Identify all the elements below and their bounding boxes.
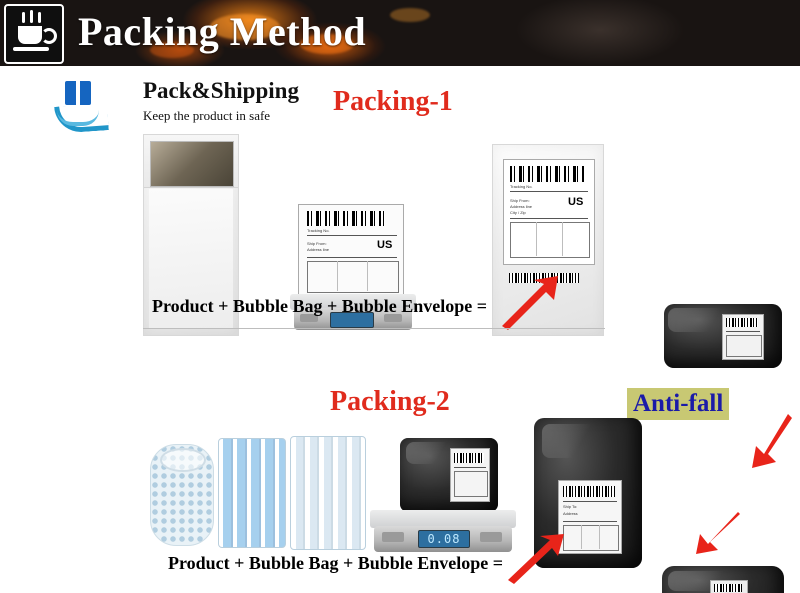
black-parcel-on-scale-photo: 0.08 bbox=[370, 438, 516, 558]
label-detail-box bbox=[510, 222, 590, 258]
section-divider bbox=[143, 328, 605, 329]
divider bbox=[599, 525, 600, 549]
red-arrow-icon bbox=[500, 274, 562, 330]
divider bbox=[562, 222, 563, 256]
divider bbox=[307, 235, 397, 236]
shipping-label bbox=[710, 580, 748, 593]
cup-body bbox=[18, 26, 42, 44]
label-text: Address bbox=[563, 511, 578, 516]
pack-shipping-title: Pack&Shipping bbox=[143, 78, 299, 104]
label-text: Ship From: bbox=[307, 241, 327, 246]
pack-shipping-logo: Pack&Shipping Keep the product in safe bbox=[55, 78, 305, 138]
scale-button[interactable] bbox=[480, 532, 502, 542]
box-in-hand-icon bbox=[55, 81, 105, 131]
air-column-bag-photo bbox=[216, 436, 286, 548]
divider bbox=[726, 331, 760, 332]
divider bbox=[563, 521, 617, 522]
parcel-sheen bbox=[542, 424, 606, 458]
barcode bbox=[714, 584, 742, 592]
shipping-label bbox=[450, 448, 490, 502]
label-text: Tracking No. bbox=[307, 228, 330, 233]
divider bbox=[581, 525, 582, 549]
label-text: Address line bbox=[510, 204, 532, 209]
page-title: Packing Method bbox=[78, 8, 366, 55]
scale-display: 0.08 bbox=[418, 530, 470, 548]
red-arrow-icon bbox=[506, 532, 568, 584]
label-text: Tracking No. bbox=[510, 184, 533, 189]
black-parcel bbox=[400, 438, 498, 512]
divider bbox=[510, 218, 588, 219]
steam-line bbox=[22, 12, 25, 23]
barcode bbox=[510, 166, 586, 182]
divider bbox=[367, 261, 368, 291]
anti-fall-parcel-top-photo bbox=[664, 304, 782, 368]
barcode bbox=[726, 318, 758, 327]
box-shape bbox=[65, 81, 91, 105]
divider bbox=[307, 257, 397, 258]
roll-opening bbox=[160, 448, 206, 472]
barcode bbox=[563, 486, 615, 497]
anti-fall-parcel-bottom-photo bbox=[662, 566, 784, 593]
shipping-label-2: Tracking No. US Ship From: Address line … bbox=[503, 159, 595, 265]
ember-glow bbox=[390, 8, 430, 22]
pack-shipping-subtitle: Keep the product in safe bbox=[143, 108, 270, 124]
label-detail-box bbox=[726, 335, 762, 357]
cup-handle bbox=[41, 28, 57, 44]
air-column-bag-clear-photo bbox=[288, 434, 366, 550]
label-detail-box bbox=[454, 471, 488, 497]
page-root: Packing Method Pack&Shipping Keep the pr… bbox=[0, 0, 800, 593]
equation-row-1: Product + Bubble Bag + Bubble Envelope = bbox=[152, 296, 487, 317]
divider bbox=[563, 501, 617, 502]
divider bbox=[510, 191, 588, 192]
label-text: Ship To: bbox=[563, 504, 577, 509]
coffee-cup-icon bbox=[4, 4, 64, 64]
steam-line bbox=[38, 12, 41, 23]
barcode bbox=[454, 453, 484, 463]
label-text: City / Zip bbox=[510, 210, 526, 215]
bubble-wrap-roll-photo bbox=[148, 440, 214, 548]
scale-button[interactable] bbox=[382, 532, 404, 542]
content-frame: Pack&Shipping Keep the product in safe P… bbox=[0, 66, 800, 593]
steam-line bbox=[30, 10, 33, 23]
packing-2-label: Packing-2 bbox=[330, 386, 450, 418]
equation-row-2: Product + Bubble Bag + Bubble Envelope = bbox=[168, 553, 503, 574]
air-column-bag bbox=[290, 436, 366, 550]
anti-fall-label: Anti-fall bbox=[627, 388, 729, 420]
label-text: Address line bbox=[307, 247, 329, 252]
product-inside bbox=[150, 141, 234, 187]
divider bbox=[337, 261, 338, 291]
shipping-label bbox=[722, 314, 764, 360]
cup-saucer bbox=[13, 47, 49, 51]
packing-1-label: Packing-1 bbox=[333, 86, 453, 118]
divider bbox=[454, 467, 486, 468]
label-detail-box bbox=[307, 261, 399, 293]
red-arrow-icon bbox=[748, 410, 792, 472]
label-text: Ship From: bbox=[510, 198, 530, 203]
air-column-bag bbox=[218, 438, 286, 548]
country-code: US bbox=[377, 239, 392, 251]
red-arrow-icon bbox=[694, 510, 742, 556]
shipping-label-1: Tracking No. US Ship From: Address line bbox=[298, 204, 404, 298]
barcode bbox=[307, 211, 385, 226]
header-banner: Packing Method bbox=[0, 0, 800, 66]
label-detail-box bbox=[563, 525, 619, 551]
country-code: US bbox=[568, 196, 583, 208]
divider bbox=[536, 222, 537, 256]
